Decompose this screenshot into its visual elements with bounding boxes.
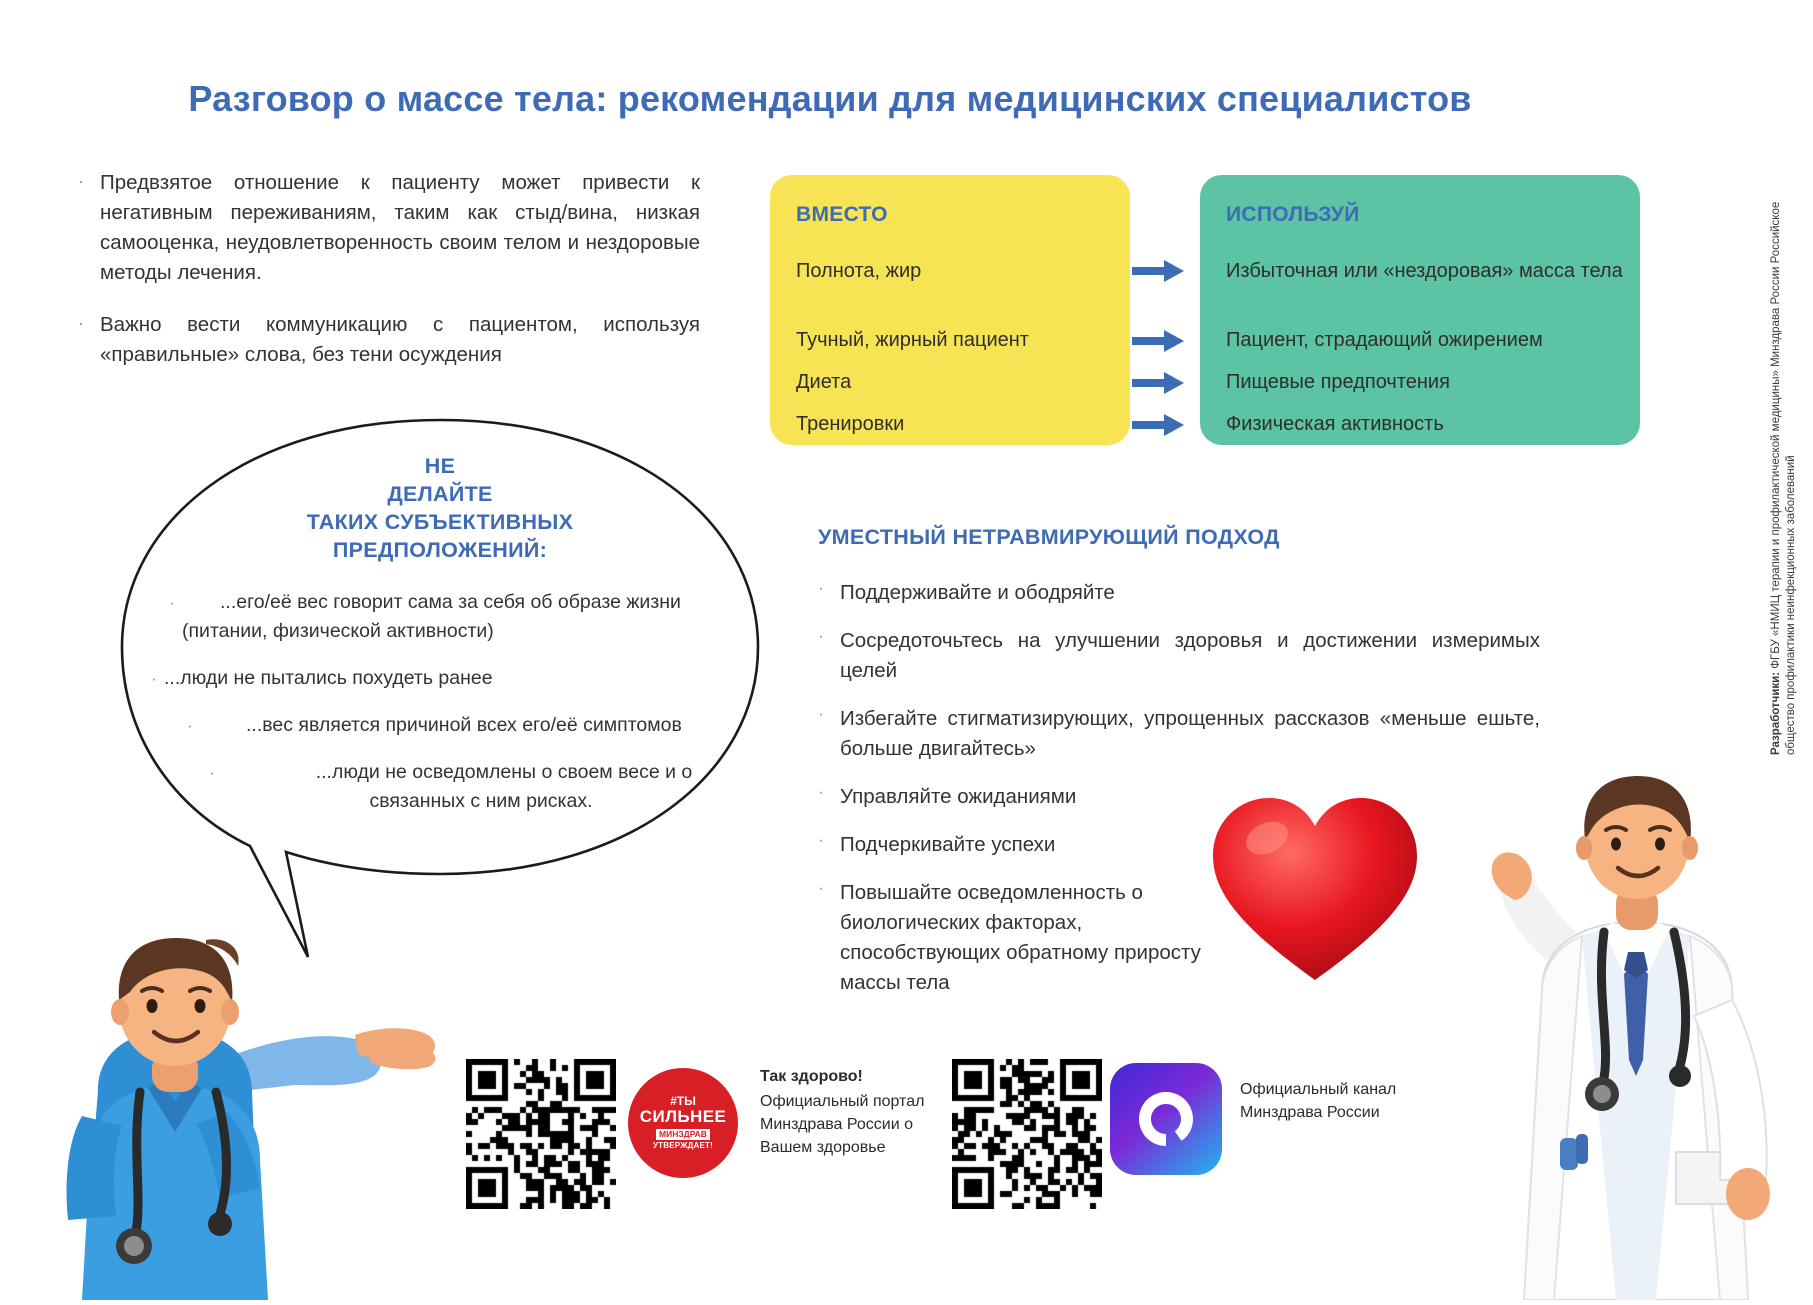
bubble-item-2: ...люди не пытались похудеть ранее — [164, 664, 740, 693]
intro-list: · Предвзятое отношение к пациенту может … — [78, 168, 708, 392]
bullet-icon: · — [180, 711, 200, 740]
instead-box: ВМЕСТО — [770, 175, 1130, 445]
bullet-icon: · — [818, 626, 840, 686]
bullet-icon: · — [818, 830, 840, 860]
bullet-icon: · — [818, 878, 840, 998]
credits-vertical: Разработчики: ФГБУ «НМИЦ терапии и профи… — [1769, 175, 1799, 755]
qr2-caption: Официальный канал Минздрава России — [1240, 1078, 1410, 1124]
qr1-caption: Так здорово! Официальный портал Минздрав… — [760, 1065, 930, 1159]
qr-code-official-channel[interactable] — [952, 1059, 1102, 1209]
list-item: · ...его/её вес говорит сама за себя об … — [140, 588, 740, 646]
arrow-right-icon — [1132, 412, 1186, 438]
list-item: · Поддерживайте и ободряйте — [818, 578, 1558, 608]
bubble-item-4: ...люди не осведомлены о своем весе и о … — [222, 758, 740, 816]
infographic-page: Разговор о массе тела: рекомендации для … — [0, 0, 1813, 1299]
use-box: ИСПОЛЬЗУЙ — [1200, 175, 1640, 445]
list-item: · Управляйте ожиданиями — [818, 782, 1558, 812]
qr2-caption-body: Официальный канал Минздрава России — [1240, 1078, 1410, 1124]
list-item: · Сосредоточьтесь на улучшении здоровья … — [818, 626, 1558, 686]
instead-item-3: Диета — [796, 369, 1116, 396]
arrow-right-icon — [1132, 258, 1186, 284]
bubble-list: · ...его/её вес говорит сама за себя об … — [140, 588, 740, 816]
list-item: · Важно вести коммуникацию с пациентом, … — [78, 310, 708, 370]
use-item-2: Пациент, страдающий ожирением — [1226, 327, 1626, 354]
bullet-icon: · — [818, 578, 840, 608]
stamp-line-2: МИНЗДРАВ — [656, 1129, 710, 1140]
instead-item-4: Тренировки — [796, 411, 1116, 438]
list-item: · ...люди не пытались похудеть ранее — [140, 664, 740, 693]
use-item-4: Физическая активность — [1226, 411, 1626, 438]
bullet-icon: · — [78, 168, 100, 288]
speech-bubble-content: НЕ ДЕЛАЙТЕ ТАКИХ СУБЪЕКТИВНЫХ ПРЕДПОЛОЖЕ… — [140, 452, 740, 834]
use-heading: ИСПОЛЬЗУЙ — [1226, 203, 1614, 227]
instead-item-2: Тучный, жирный пациент — [796, 327, 1126, 354]
approach-item-1: Поддерживайте и ободряйте — [840, 578, 1540, 608]
instead-heading: ВМЕСТО — [796, 203, 1104, 227]
credits-line-1: ФГБУ «НМИЦ терапии и профилактической ме… — [1770, 267, 1782, 669]
bubble-title-line-1: НЕ — [140, 452, 740, 480]
qr1-caption-body: Официальный портал Минздрава России о Ва… — [760, 1090, 930, 1159]
bubble-title: НЕ ДЕЛАЙТЕ ТАКИХ СУБЪЕКТИВНЫХ ПРЕДПОЛОЖЕ… — [140, 452, 740, 564]
stamp-line-3: УТВЕРЖДАЕТ! — [653, 1142, 713, 1151]
stamp-badge: #ТЫ СИЛЬНЕЕ МИНЗДРАВ УТВЕРЖДАЕТ! — [628, 1068, 738, 1178]
bubble-title-line-3: ТАКИХ СУБЪЕКТИВНЫХ — [140, 508, 740, 536]
approach-item-5: Подчеркивайте успехи — [840, 830, 1540, 860]
arrow-right-icon — [1132, 370, 1186, 396]
use-item-3: Пищевые предпочтения — [1226, 369, 1626, 396]
list-item: · ...вес является причиной всех его/её с… — [140, 711, 740, 740]
instead-item-1: Полнота, жир — [796, 258, 1116, 285]
approach-list: · Поддерживайте и ободряйте · Сосредоточ… — [818, 578, 1558, 1016]
list-item: · Предвзятое отношение к пациенту может … — [78, 168, 708, 288]
approach-item-6: Повышайте осведомленность о биологически… — [840, 878, 1230, 998]
arrow-right-icon — [1132, 328, 1186, 354]
approach-item-2: Сосредоточьтесь на улучшении здоровья и … — [840, 626, 1540, 686]
bullet-icon: · — [144, 664, 164, 693]
bubble-title-line-4: ПРЕДПОЛОЖЕНИЙ: — [140, 536, 740, 564]
bullet-icon: · — [202, 758, 222, 816]
illustration-doctor-blue — [20, 880, 490, 1300]
approach-heading: УМЕСТНЫЙ НЕТРАВМИРУЮЩИЙ ПОДХОД — [818, 525, 1518, 550]
bullet-icon: · — [78, 310, 100, 370]
qr1-caption-heading: Так здорово! — [760, 1065, 930, 1088]
stamp-line-1: СИЛЬНЕЕ — [640, 1108, 726, 1126]
approach-item-3: Избегайте стигматизирующих, упрощенных р… — [840, 704, 1540, 764]
intro-text-2: Важно вести коммуникацию с пациентом, ис… — [100, 310, 700, 370]
page-title: Разговор о массе тела: рекомендации для … — [0, 78, 1660, 120]
illustration-doctor-white — [1480, 760, 1810, 1300]
bullet-icon: · — [818, 704, 840, 764]
approach-item-4: Управляйте ожиданиями — [840, 782, 1540, 812]
max-app-logo-icon — [1110, 1063, 1222, 1175]
use-item-1: Избыточная или «нездоровая» масса тела — [1226, 258, 1626, 285]
credits-label: Разработчики: — [1770, 672, 1782, 755]
bullet-icon: · — [162, 588, 182, 646]
list-item: · Избегайте стигматизирующих, упрощенных… — [818, 704, 1558, 764]
bullet-icon: · — [818, 782, 840, 812]
bubble-title-line-2: ДЕЛАЙТЕ — [140, 480, 740, 508]
list-item: · Повышайте осведомленность о биологичес… — [818, 878, 1558, 998]
list-item: · Подчеркивайте успехи — [818, 830, 1558, 860]
bubble-item-1: ...его/её вес говорит сама за себя об об… — [182, 588, 730, 646]
list-item: · ...люди не осведомлены о своем весе и … — [140, 758, 740, 816]
illustration-heart — [1205, 790, 1425, 990]
bubble-item-3: ...вес является причиной всех его/её сим… — [200, 711, 740, 740]
intro-text-1: Предвзятое отношение к пациенту может пр… — [100, 168, 700, 288]
